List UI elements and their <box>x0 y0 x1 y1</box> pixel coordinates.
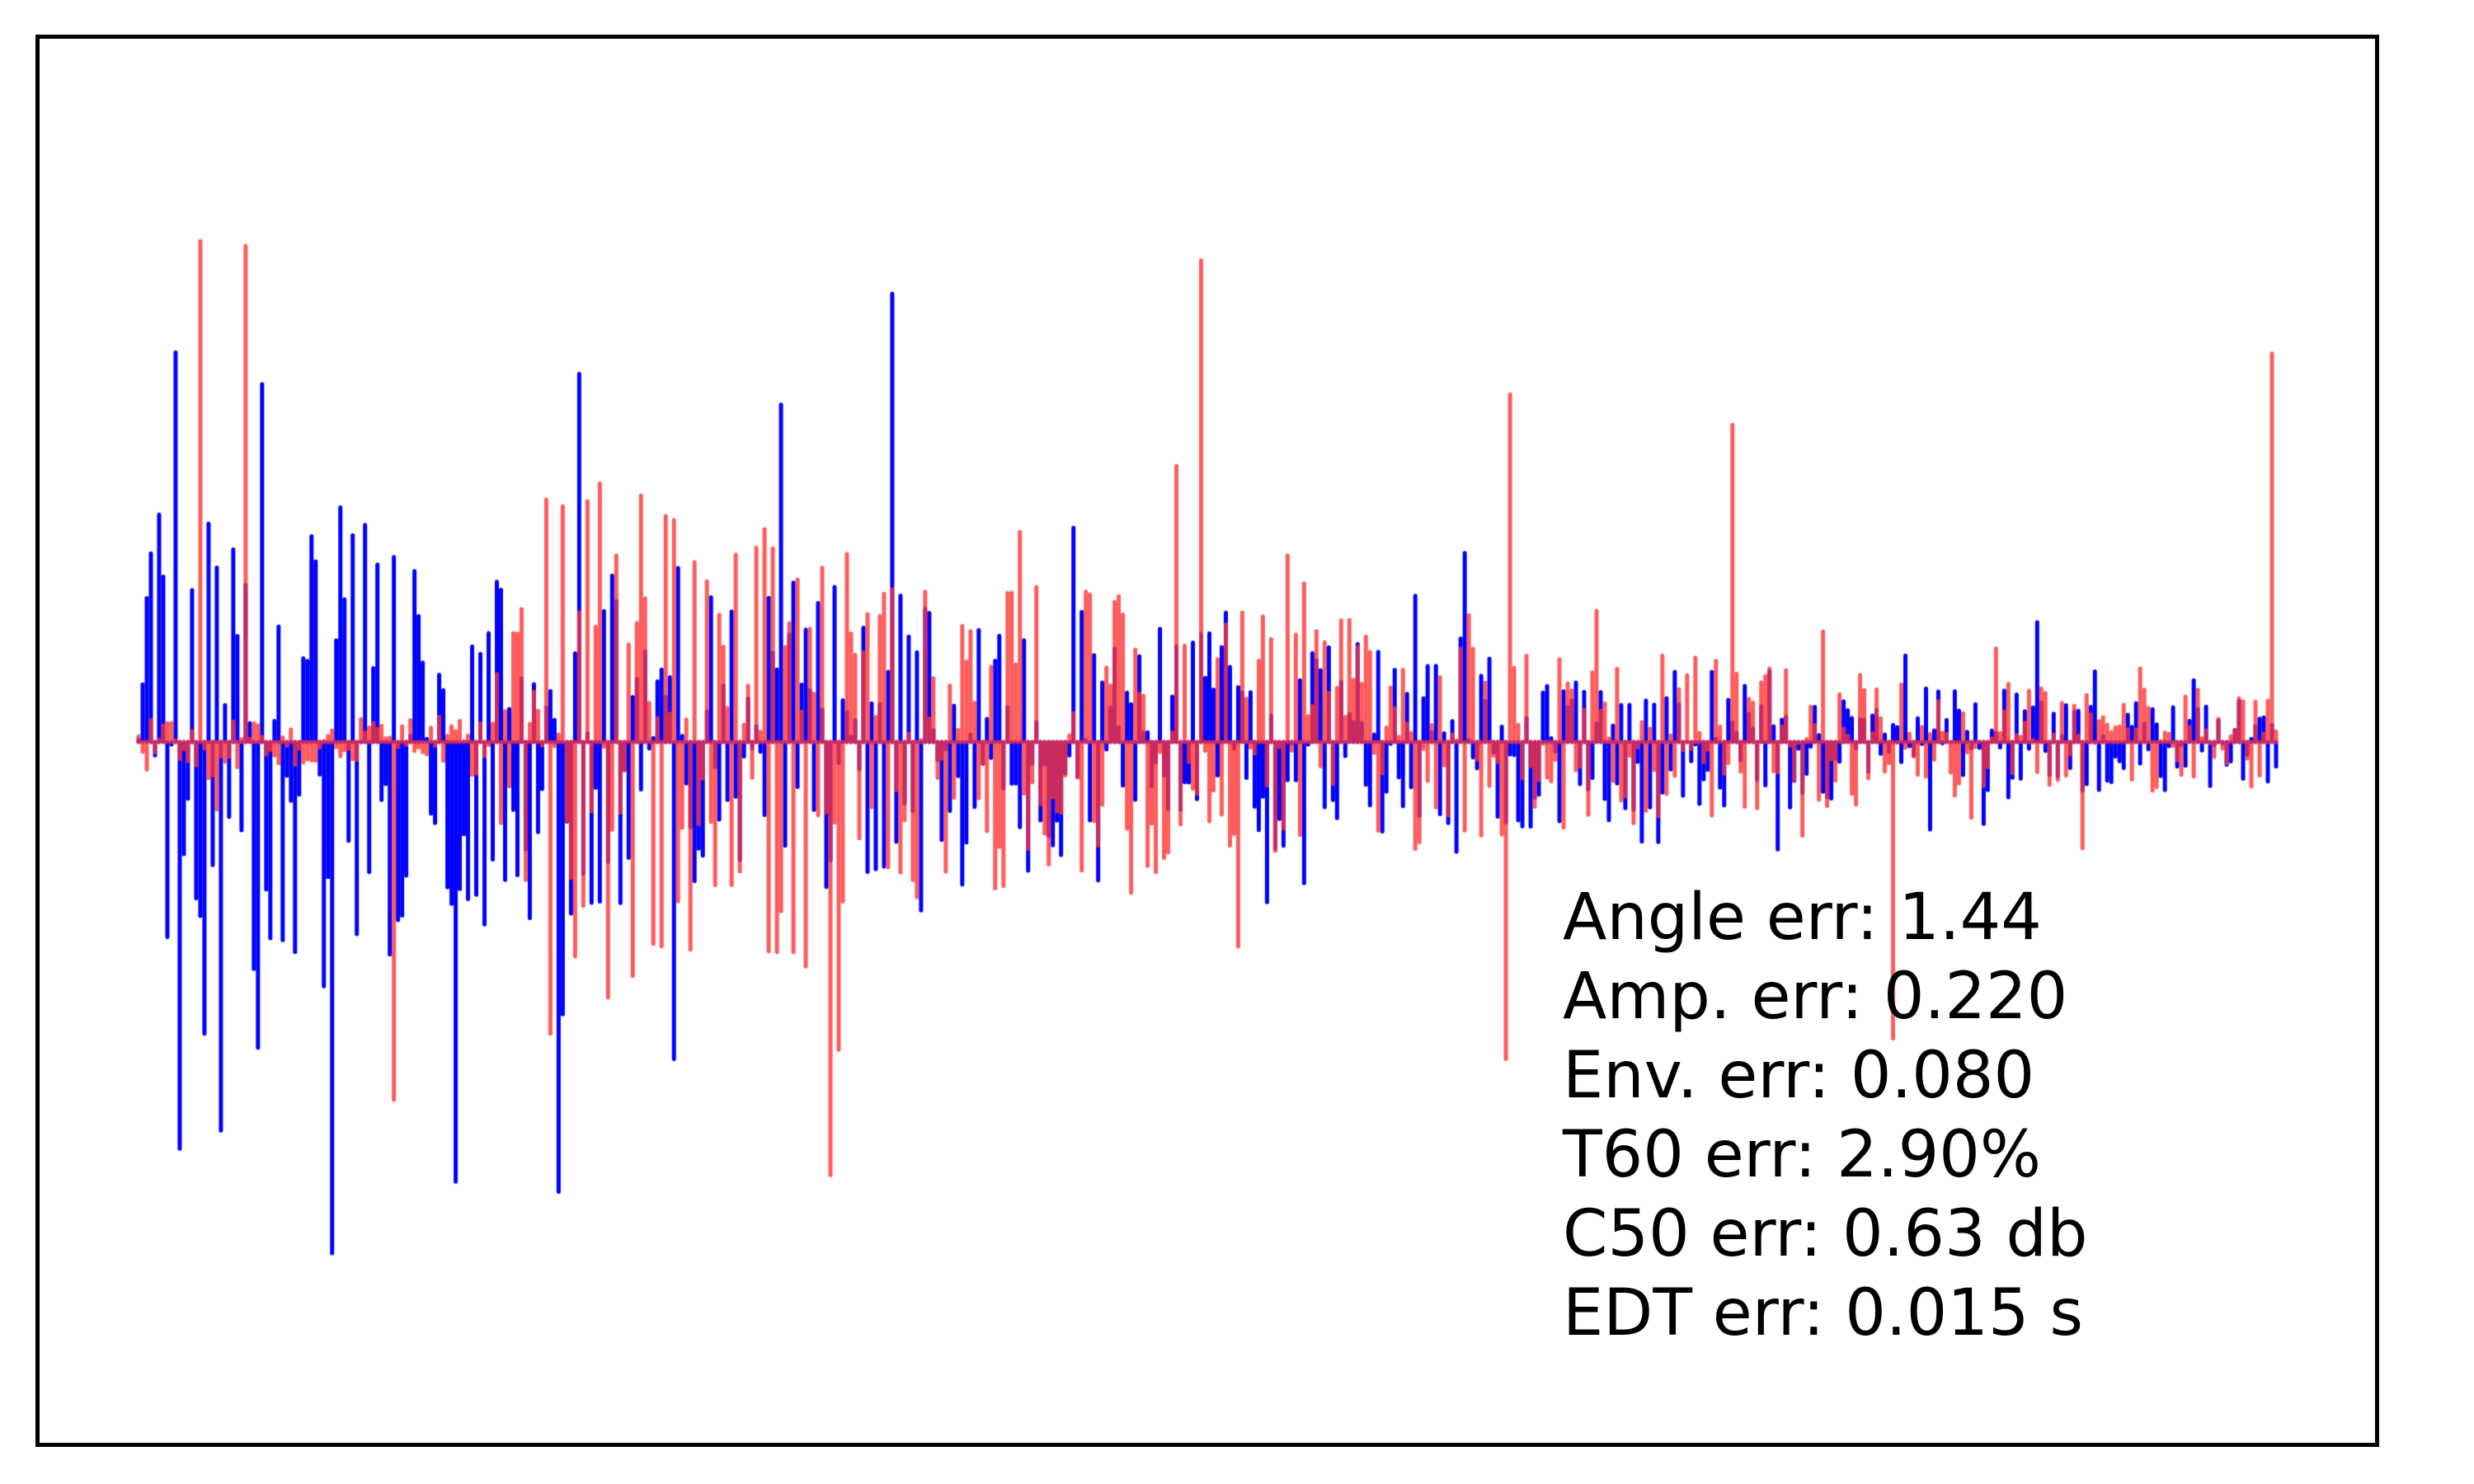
figure-canvas: Angle err: 1.44 Amp. err: 0.220 Env. err… <box>0 0 2474 1484</box>
plot-axes-frame: Angle err: 1.44 Amp. err: 0.220 Env. err… <box>35 35 2379 1447</box>
impulse-response-waveform-plot <box>40 39 2375 1443</box>
